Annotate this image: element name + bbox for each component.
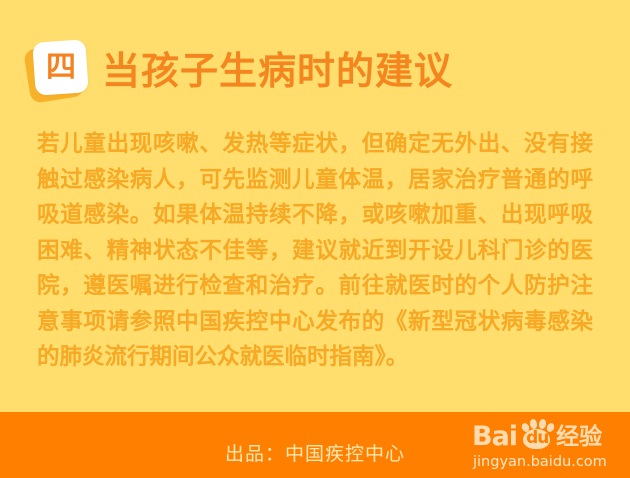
- footer-bar: 出品：中国疾控中心 Bai du 经验 jingyan.baidu.com: [0, 412, 630, 478]
- badge-face: 四: [32, 39, 89, 96]
- baidu-jingyan-logo: Bai du 经验 jingyan.baidu.com: [468, 418, 618, 476]
- baidu-wordmark-cn: 经验: [556, 426, 602, 449]
- heading-row: 四 当孩子生病时的建议: [0, 36, 630, 106]
- baidu-site-url: jingyan.baidu.com: [468, 454, 618, 470]
- baidu-logo-mark: Bai du 经验: [468, 418, 618, 450]
- badge-number-label: 四: [46, 53, 76, 83]
- baidu-wordmark-latin: Bai: [472, 423, 517, 450]
- section-number-badge: 四: [27, 40, 89, 102]
- body-paragraph: 若儿童出现咳嗽、发热等症状，但确定无外出、没有接触过感染病人，可先监测儿童体温，…: [37, 127, 593, 376]
- paw-print-icon: du: [518, 418, 554, 450]
- paw-du-label: du: [526, 430, 548, 447]
- poster-canvas: 四 当孩子生病时的建议 若儿童出现咳嗽、发热等症状，但确定无外出、没有接触过感染…: [0, 0, 630, 478]
- page-title: 当孩子生病时的建议: [102, 52, 453, 90]
